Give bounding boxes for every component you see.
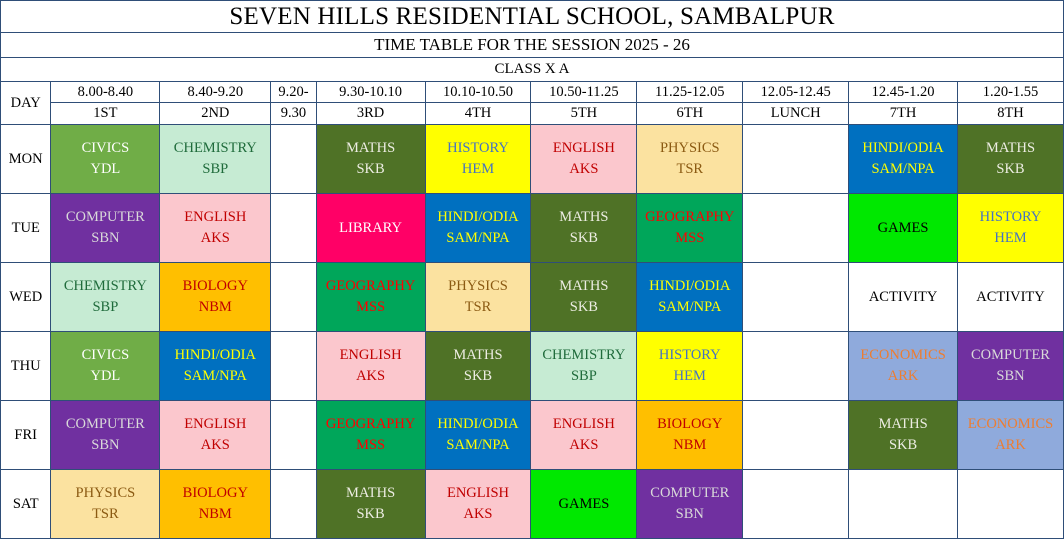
header-row-times: DAY 8.00-8.40 8.40-9.20 9.20- 9.30-10.10… [1,82,1064,103]
subject-name: ECONOMICS [958,414,1063,435]
period-cell[interactable]: MATHSSKB [425,332,531,401]
subject-name: GEOGRAPHY [317,414,425,435]
empty-slot-cell [271,263,316,332]
subject-name: GEOGRAPHY [637,207,742,228]
subject-name: HISTORY [958,207,1063,228]
subject-name: ENGLISH [317,345,425,366]
period-cell[interactable]: GEOGRAPHYMSS [316,401,425,470]
day-cell-tue: TUE [1,194,51,263]
empty-slot-cell [849,470,958,539]
period-cell[interactable]: COMPUTERSBN [51,401,160,470]
teacher-code: MSS [317,297,425,318]
subject-name: ENGLISH [160,207,270,228]
header-time-6: 11.25-12.05 [637,82,743,103]
teacher-code: SBP [531,366,636,387]
header-time-3: 9.30-10.10 [316,82,425,103]
teacher-code: AKS [426,504,531,525]
subject-name: COMPUTER [51,207,159,228]
empty-slot-cell [271,470,316,539]
class-label: CLASS X A [1,58,1064,82]
empty-slot-cell [743,332,849,401]
subject-name: COMPUTER [637,483,742,504]
subject-name: HISTORY [637,345,742,366]
title-row-class: CLASS X A [1,58,1064,82]
subject-name: BIOLOGY [160,276,270,297]
period-cell[interactable]: COMPUTERSBN [958,332,1064,401]
teacher-code: SKB [531,297,636,318]
subject-name: MATHS [531,276,636,297]
period-cell[interactable]: GEOGRAPHYMSS [637,194,743,263]
subject-name: ACTIVITY [958,287,1063,308]
period-cell[interactable]: MATHSSKB [531,194,637,263]
subject-name: PHYSICS [51,483,159,504]
header-time-lunch: 12.05-12.45 [743,82,849,103]
subject-name: MATHS [958,138,1063,159]
header-time-2: 8.40-9.20 [160,82,271,103]
subject-name: ENGLISH [531,414,636,435]
empty-slot-cell [743,263,849,332]
header-period-7: 7TH [849,103,958,125]
subject-name: GAMES [849,218,957,239]
teacher-code: TSR [51,504,159,525]
period-cell[interactable]: ENGLISHAKS [160,401,271,470]
subject-name: GAMES [531,494,636,515]
period-cell[interactable]: ECONOMICSARK [958,401,1064,470]
teacher-code: SKB [317,159,425,180]
empty-slot-cell [743,401,849,470]
teacher-code: AKS [531,159,636,180]
teacher-code: SKB [531,228,636,249]
period-cell[interactable]: HINDI/ODIASAM/NPA [425,401,531,470]
period-cell[interactable]: ENGLISHAKS [160,194,271,263]
period-cell[interactable]: CIVICSYDL [51,125,160,194]
empty-slot-cell [271,332,316,401]
session-subtitle: TIME TABLE FOR THE SESSION 2025 - 26 [1,33,1064,58]
teacher-code: SBN [51,435,159,456]
subject-name: HINDI/ODIA [849,138,957,159]
teacher-code: TSR [426,297,531,318]
period-cell[interactable]: CHEMISTRYSBP [160,125,271,194]
subject-name: ACTIVITY [849,287,957,308]
header-period-6: 6TH [637,103,743,125]
period-cell[interactable]: ENGLISHAKS [316,332,425,401]
subject-name: COMPUTER [958,345,1063,366]
header-period-break: 9.30 [271,103,316,125]
teacher-code: HEM [958,228,1063,249]
subject-name: BIOLOGY [637,414,742,435]
day-cell-fri: FRI [1,401,51,470]
day-cell-sat: SAT [1,470,51,539]
period-cell[interactable]: ECONOMICSARK [849,332,958,401]
day-cell-mon: MON [1,125,51,194]
subject-name: HINDI/ODIA [426,207,531,228]
timetable: SEVEN HILLS RESIDENTIAL SCHOOL, SAMBALPU… [0,0,1064,539]
period-cell[interactable]: ENGLISHAKS [531,125,637,194]
period-cell[interactable]: GAMES [531,470,637,539]
period-cell[interactable]: CHEMISTRYSBP [51,263,160,332]
empty-slot-cell [271,401,316,470]
teacher-code: HEM [637,366,742,387]
timetable-page: SEVEN HILLS RESIDENTIAL SCHOOL, SAMBALPU… [0,0,1064,540]
subject-name: PHYSICS [426,276,531,297]
teacher-code: SAM/NPA [637,297,742,318]
subject-name: MATHS [426,345,531,366]
period-cell[interactable]: PHYSICSTSR [51,470,160,539]
subject-name: CIVICS [51,345,159,366]
subject-name: CHEMISTRY [51,276,159,297]
period-cell[interactable]: HISTORYHEM [425,125,531,194]
subject-name: MATHS [317,483,425,504]
teacher-code: YDL [51,159,159,180]
period-cell[interactable]: CHEMISTRYSBP [531,332,637,401]
table-row: FRICOMPUTERSBNENGLISHAKSGEOGRAPHYMSSHIND… [1,401,1064,470]
subject-name: BIOLOGY [160,483,270,504]
subject-name: CHEMISTRY [160,138,270,159]
teacher-code: NBM [637,435,742,456]
period-cell[interactable]: GEOGRAPHYMSS [316,263,425,332]
teacher-code: SKB [317,504,425,525]
teacher-code: AKS [160,435,270,456]
title-row-session: TIME TABLE FOR THE SESSION 2025 - 26 [1,33,1064,58]
period-cell[interactable]: HINDI/ODIASAM/NPA [425,194,531,263]
header-period-2: 2ND [160,103,271,125]
teacher-code: AKS [160,228,270,249]
table-row: MONCIVICSYDLCHEMISTRYSBPMATHSSKBHISTORYH… [1,125,1064,194]
teacher-code: MSS [317,435,425,456]
teacher-code: AKS [317,366,425,387]
empty-slot-cell [271,194,316,263]
header-day: DAY [1,82,51,125]
period-cell[interactable]: HISTORYHEM [637,332,743,401]
period-cell[interactable]: LIBRARY [316,194,425,263]
day-cell-wed: WED [1,263,51,332]
table-row: SATPHYSICSTSRBIOLOGYNBMMATHSSKBENGLISHAK… [1,470,1064,539]
period-cell[interactable]: COMPUTERSBN [637,470,743,539]
period-cell[interactable]: HINDI/ODIASAM/NPA [637,263,743,332]
table-row: WEDCHEMISTRYSBPBIOLOGYNBMGEOGRAPHYMSSPHY… [1,263,1064,332]
subject-name: ECONOMICS [849,345,957,366]
teacher-code: SAM/NPA [160,366,270,387]
teacher-code: SKB [426,366,531,387]
teacher-code: TSR [637,159,742,180]
header-period-lunch: LUNCH [743,103,849,125]
period-cell[interactable]: HISTORYHEM [958,194,1064,263]
header-period-8: 8TH [958,103,1064,125]
subject-name: ENGLISH [531,138,636,159]
page-title: SEVEN HILLS RESIDENTIAL SCHOOL, SAMBALPU… [1,1,1064,33]
period-cell[interactable]: ACTIVITY [849,263,958,332]
subject-name: MATHS [317,138,425,159]
teacher-code: SAM/NPA [426,435,531,456]
teacher-code: ARK [849,366,957,387]
subject-name: COMPUTER [51,414,159,435]
subject-name: HINDI/ODIA [637,276,742,297]
subject-name: HINDI/ODIA [160,345,270,366]
timetable-body: SEVEN HILLS RESIDENTIAL SCHOOL, SAMBALPU… [1,1,1064,539]
subject-name: MATHS [849,414,957,435]
period-cell[interactable]: ACTIVITY [958,263,1064,332]
teacher-code: SKB [849,435,957,456]
period-cell[interactable]: CIVICSYDL [51,332,160,401]
subject-name: ENGLISH [160,414,270,435]
period-cell[interactable]: MATHSSKB [316,470,425,539]
header-period-5: 5TH [531,103,637,125]
period-cell[interactable]: HINDI/ODIASAM/NPA [160,332,271,401]
table-row: THUCIVICSYDLHINDI/ODIASAM/NPAENGLISHAKSM… [1,332,1064,401]
period-cell[interactable]: MATHSSKB [316,125,425,194]
header-time-8: 1.20-1.55 [958,82,1064,103]
header-time-7: 12.45-1.20 [849,82,958,103]
teacher-code: ARK [958,435,1063,456]
period-cell[interactable]: MATHSSKB [531,263,637,332]
period-cell[interactable]: PHYSICSTSR [637,125,743,194]
teacher-code: NBM [160,504,270,525]
header-time-5: 10.50-11.25 [531,82,637,103]
period-cell[interactable]: COMPUTERSBN [51,194,160,263]
subject-name: ENGLISH [426,483,531,504]
subject-name: CHEMISTRY [531,345,636,366]
empty-slot-cell [271,125,316,194]
subject-name: PHYSICS [637,138,742,159]
table-row: TUECOMPUTERSBNENGLISHAKSLIBRARYHINDI/ODI… [1,194,1064,263]
period-cell[interactable]: HINDI/ODIASAM/NPA [849,125,958,194]
teacher-code: YDL [51,366,159,387]
teacher-code: MSS [637,228,742,249]
empty-slot-cell [743,194,849,263]
subject-name: HINDI/ODIA [426,414,531,435]
teacher-code: SBP [51,297,159,318]
subject-name: CIVICS [51,138,159,159]
teacher-code: HEM [426,159,531,180]
teacher-code: SAM/NPA [849,159,957,180]
subject-name: GEOGRAPHY [317,276,425,297]
header-time-break: 9.20- [271,82,316,103]
empty-slot-cell [743,470,849,539]
teacher-code: SKB [958,159,1063,180]
teacher-code: SBN [51,228,159,249]
teacher-code: SBN [637,504,742,525]
day-cell-thu: THU [1,332,51,401]
teacher-code: SAM/NPA [426,228,531,249]
header-period-1: 1ST [51,103,160,125]
period-cell[interactable]: GAMES [849,194,958,263]
teacher-code: SBN [958,366,1063,387]
period-cell[interactable]: MATHSSKB [958,125,1064,194]
header-time-1: 8.00-8.40 [51,82,160,103]
header-period-3: 3RD [316,103,425,125]
teacher-code: SBP [160,159,270,180]
period-cell[interactable]: ENGLISHAKS [531,401,637,470]
period-cell[interactable]: ENGLISHAKS [425,470,531,539]
teacher-code: AKS [531,435,636,456]
subject-name: MATHS [531,207,636,228]
empty-slot-cell [958,470,1064,539]
title-row-school: SEVEN HILLS RESIDENTIAL SCHOOL, SAMBALPU… [1,1,1064,33]
header-period-4: 4TH [425,103,531,125]
period-cell[interactable]: BIOLOGYNBM [160,470,271,539]
period-cell[interactable]: BIOLOGYNBM [160,263,271,332]
period-cell[interactable]: PHYSICSTSR [425,263,531,332]
subject-name: LIBRARY [317,218,425,239]
teacher-code: NBM [160,297,270,318]
empty-slot-cell [743,125,849,194]
period-cell[interactable]: BIOLOGYNBM [637,401,743,470]
period-cell[interactable]: MATHSSKB [849,401,958,470]
subject-name: HISTORY [426,138,531,159]
header-row-periods: 1ST 2ND 9.30 3RD 4TH 5TH 6TH LUNCH 7TH 8… [1,103,1064,125]
header-time-4: 10.10-10.50 [425,82,531,103]
